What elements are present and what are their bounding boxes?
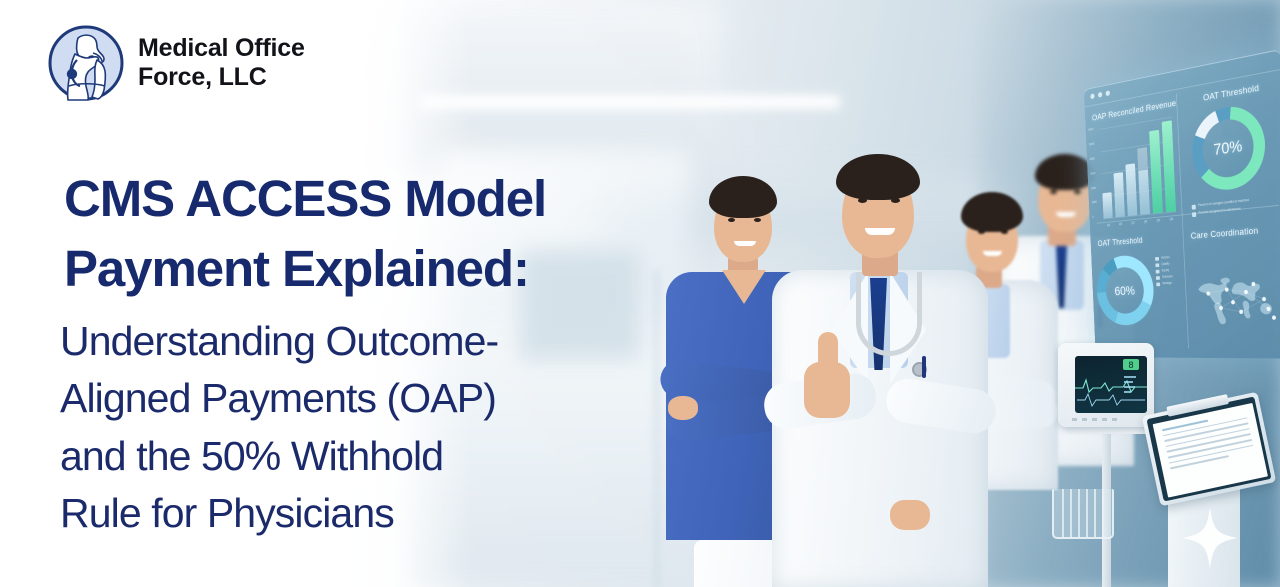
monitor-screen: 8: [1075, 356, 1147, 413]
subtitle-line-4: Rule for Physicians: [60, 485, 700, 542]
clinic-equipment: 8: [1050, 337, 1280, 587]
panel-oat-threshold[interactable]: OAT Threshold 70% Percent of managed con…: [1176, 70, 1280, 223]
window-dot-3[interactable]: [1106, 90, 1110, 96]
monitor-tray: [1066, 427, 1148, 434]
panel-title-oat-threshold-2: OAT Threshold: [1097, 232, 1176, 247]
bar-q4: [1137, 147, 1150, 215]
oat-threshold-donut: 70%: [1190, 101, 1267, 194]
brand-name: Medical Office Force, LLC: [138, 34, 305, 92]
holographic-dashboard[interactable]: OAP Reconciled Revenue 600K 500K 400K 30…: [1084, 49, 1280, 359]
staff-lead-doctor: [770, 140, 990, 587]
bar-q2: [1114, 172, 1125, 217]
brand-name-line2: Force, LLC: [138, 63, 305, 92]
oat-threshold-2-value: 60%: [1095, 253, 1155, 325]
page-title: CMS ACCESS Model Payment Explained:: [64, 164, 704, 304]
oat-threshold-2-legend: Access Quality Equity Outcome Savings: [1155, 256, 1173, 286]
subtitle-line-2: Aligned Payments (OAP): [60, 370, 700, 427]
bar-q6: [1162, 120, 1176, 211]
revenue-bars: [1100, 117, 1177, 219]
brand-name-line1: Medical Office: [138, 34, 305, 63]
oat-threshold-value: 70%: [1190, 101, 1267, 194]
window-dot-1[interactable]: [1090, 93, 1094, 99]
window-dot-2[interactable]: [1098, 92, 1102, 98]
subtitle-line-3: and the 50% Withhold: [60, 428, 700, 485]
page-subtitle: Understanding Outcome- Aligned Payments …: [60, 313, 700, 543]
sparkle-decoration: [1182, 507, 1238, 569]
hero-banner: OAP Reconciled Revenue 600K 500K 400K 30…: [0, 0, 1280, 587]
bar-q3: [1125, 163, 1137, 215]
monitor-value: 8: [1128, 360, 1133, 370]
doctor-badge-icon: [47, 24, 125, 102]
bar-q5: [1149, 130, 1163, 213]
thumb-up-icon: [818, 332, 838, 372]
bar-q1: [1102, 192, 1112, 218]
supply-basket: [1052, 489, 1114, 539]
panel-oap-reconciled-revenue[interactable]: OAP Reconciled Revenue 600K 500K 400K 30…: [1085, 90, 1182, 232]
patient-chart-tablet[interactable]: [1142, 392, 1277, 507]
oat-threshold-donut-2: 60%: [1095, 253, 1155, 325]
stethoscope-icon: [856, 272, 922, 356]
window-controls[interactable]: [1090, 90, 1110, 99]
panel-title-care-coordination: Care Coordination: [1190, 223, 1280, 241]
vital-signs-monitor[interactable]: 8: [1058, 343, 1154, 427]
subtitle-line-1: Understanding Outcome-: [60, 313, 700, 370]
world-map: [1190, 240, 1280, 353]
brand-logo[interactable]: Medical Office Force, LLC: [47, 24, 305, 102]
